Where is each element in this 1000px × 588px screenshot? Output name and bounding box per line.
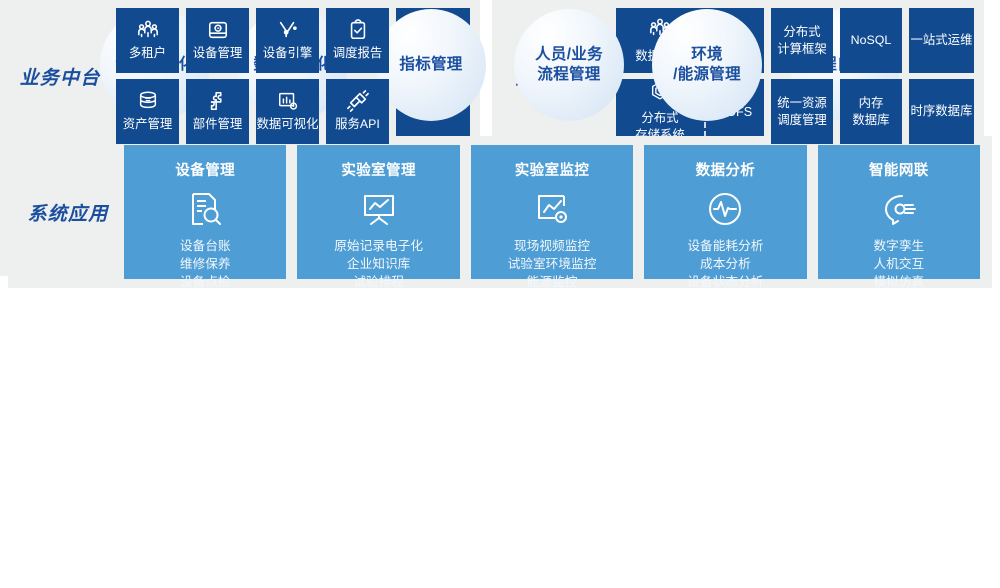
system-application-cards: 设备管理 设备台账维修保养设备点检 实验室管理: [124, 145, 992, 279]
sysapp-card-lines: 设备能耗分析成本分析设备状态分析: [687, 237, 763, 291]
data-visual-icon: [277, 90, 299, 112]
tile-label: 部件管理: [193, 116, 243, 132]
sysapp-card-data-analysis[interactable]: 数据分析 设备能耗分析成本分析设备状态分析: [644, 145, 806, 279]
device-box-icon: [207, 19, 229, 41]
capability-bubble-3[interactable]: 人员/业务流程管理: [514, 9, 624, 121]
tile-label: 数据可视化: [257, 116, 319, 132]
capability-bubble-2[interactable]: 指标管理: [376, 9, 486, 121]
tile-unified-resource-scheduling[interactable]: 统一资源调度管理: [771, 79, 833, 144]
sysapp-card-device-management[interactable]: 设备管理 设备台账维修保养设备点检: [124, 145, 286, 279]
tile-timeseries-database[interactable]: 时序数据库: [909, 79, 974, 144]
architecture-diagram: 设备网联化 数采自动化 指标管理 人员/业务流程管理 环境/能源管理 流程自动化…: [0, 0, 1000, 588]
tile-asset-management[interactable]: 资产管理: [116, 79, 179, 144]
tile-label: 分布式计算框架: [777, 24, 827, 56]
tile-label: 服务API: [335, 116, 380, 132]
tile-dispatch-report[interactable]: 调度报告: [326, 8, 389, 73]
tile-label: 内存数据库: [852, 95, 889, 127]
sysapp-card-lines: 设备台账维修保养设备点检: [180, 237, 231, 291]
capability-label: 指标管理: [393, 55, 468, 75]
monitor-chart-icon: [533, 190, 571, 228]
tile-data-visualization[interactable]: 数据可视化: [256, 79, 319, 144]
tile-label: 多租户: [129, 45, 166, 61]
capability-bubble-4[interactable]: 环境/能源管理: [652, 9, 762, 121]
ai-head-icon: [880, 190, 918, 228]
sysapp-card-lab-management[interactable]: 实验室管理 原始记录电子化企业知识库试验排程: [297, 145, 459, 279]
clipboard-check-icon: [347, 19, 369, 41]
tile-label: 设备引擎: [263, 45, 313, 61]
system-application-band: 系统应用 设备管理 设备台账维修保养设备点检 实验室管理: [8, 136, 992, 288]
pulse-circle-icon: [706, 190, 744, 228]
sysapp-card-title: 实验室管理: [341, 159, 416, 180]
puzzle-piece-icon: [207, 90, 229, 112]
sysapp-card-lines: 现场视频监控试验室环境监控能源监控: [508, 237, 597, 291]
tile-distributed-compute-framework[interactable]: 分布式计算框架: [771, 8, 833, 73]
tile-label: 统一资源调度管理: [777, 95, 827, 127]
tile-nosql[interactable]: NoSQL: [840, 8, 902, 73]
tile-device-management[interactable]: 设备管理: [186, 8, 249, 73]
asset-database-icon: [137, 90, 159, 112]
sysapp-card-title: 设备管理: [175, 159, 235, 180]
sysapp-card-title: 实验室监控: [515, 159, 590, 180]
tile-label: 一站式运维: [911, 32, 973, 48]
document-search-icon: [186, 190, 224, 228]
tile-multi-tenant[interactable]: 多租户: [116, 8, 179, 73]
tile-label: 资产管理: [123, 116, 173, 132]
tile-label: 设备管理: [193, 45, 243, 61]
tile-label: NoSQL: [851, 32, 892, 48]
capability-label: 环境/能源管理: [667, 45, 747, 86]
tile-one-stop-ops[interactable]: 一站式运维: [909, 8, 974, 73]
tile-in-memory-database[interactable]: 内存数据库: [840, 79, 902, 144]
sysapp-card-title: 智能网联: [869, 159, 929, 180]
sysapp-card-intelligent-connectivity[interactable]: 智能网联 数字孪生人机交互模拟仿真: [818, 145, 980, 279]
sysapp-card-lines: 原始记录电子化企业知识库试验排程: [334, 237, 423, 291]
tile-service-api[interactable]: 服务API: [326, 79, 389, 144]
sysapp-card-lab-monitoring[interactable]: 实验室监控 现场视频监控试验室环境监控能源监控: [471, 145, 633, 279]
tile-label: 调度报告: [333, 45, 383, 61]
presentation-chart-icon: [360, 190, 398, 228]
tile-device-engine[interactable]: 设备引擎: [256, 8, 319, 73]
multi-tenant-icon: [137, 19, 159, 41]
capability-label: 人员/业务流程管理: [529, 45, 609, 86]
system-application-label: 系统应用: [12, 199, 124, 226]
sysapp-card-lines: 数字孪生人机交互模拟仿真: [873, 237, 924, 291]
sysapp-card-title: 数据分析: [696, 159, 756, 180]
tile-label: 时序数据库: [911, 103, 973, 119]
tile-component-management[interactable]: 部件管理: [186, 79, 249, 144]
api-link-icon: [347, 90, 369, 112]
engine-node-icon: [277, 19, 299, 41]
